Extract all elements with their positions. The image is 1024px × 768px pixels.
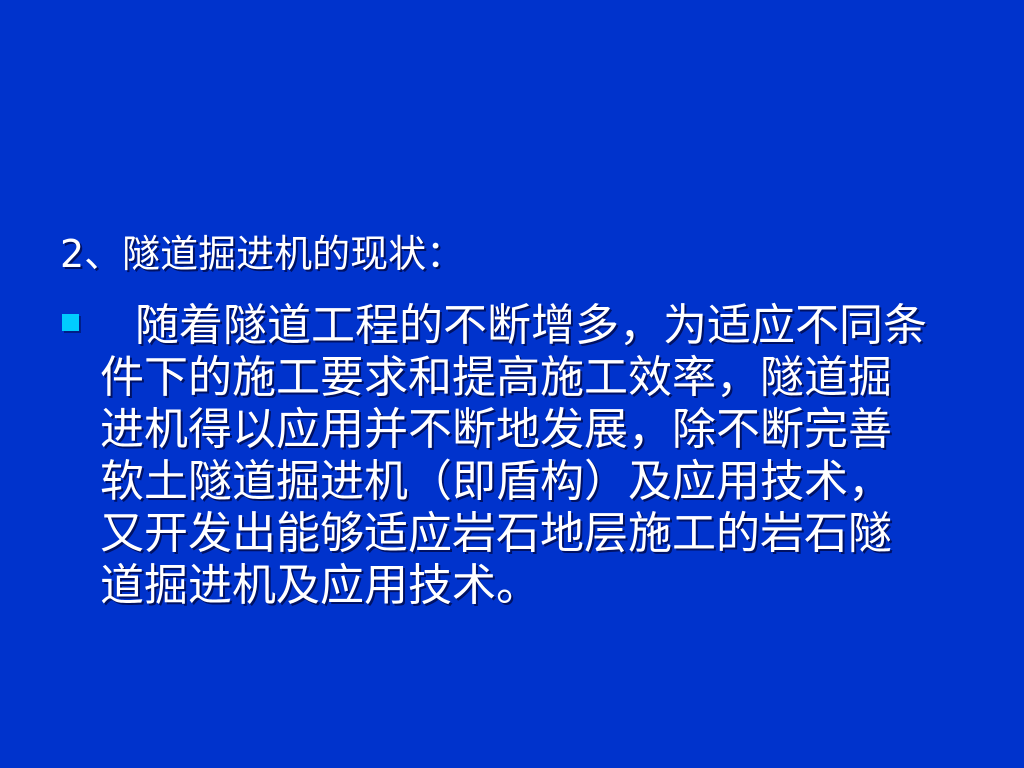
paragraph-line: 又开发出能够适应岩石地层施工的岩石隧 — [100, 508, 990, 560]
paragraph-line: 道掘进机及应用技术。 — [100, 560, 990, 612]
paragraph-line: 件下的施工要求和提高施工效率，隧道掘 — [100, 352, 990, 404]
presentation-slide: 2、隧道掘进机的现状： 随着隧道工程的不断增多，为适应不同条 件下的施工要求和提… — [0, 0, 1024, 768]
slide-content-area: 2、隧道掘进机的现状： 随着隧道工程的不断增多，为适应不同条 件下的施工要求和提… — [0, 0, 1024, 768]
square-bullet-icon — [62, 314, 79, 331]
paragraph-line: 进机得以应用并不断地发展，除不断完善 — [100, 404, 990, 456]
paragraph-line: 随着隧道工程的不断增多，为适应不同条 — [100, 300, 990, 352]
bullet-paragraph: 随着隧道工程的不断增多，为适应不同条 件下的施工要求和提高施工效率，隧道掘 进机… — [60, 300, 990, 612]
bullet-list-item: 随着隧道工程的不断增多，为适应不同条 件下的施工要求和提高施工效率，隧道掘 进机… — [60, 300, 990, 612]
paragraph-line: 软土隧道掘进机（即盾构）及应用技术， — [100, 456, 990, 508]
slide-title: 2、隧道掘进机的现状： — [60, 231, 464, 277]
slide-title-row: 2、隧道掘进机的现状： — [60, 228, 960, 280]
